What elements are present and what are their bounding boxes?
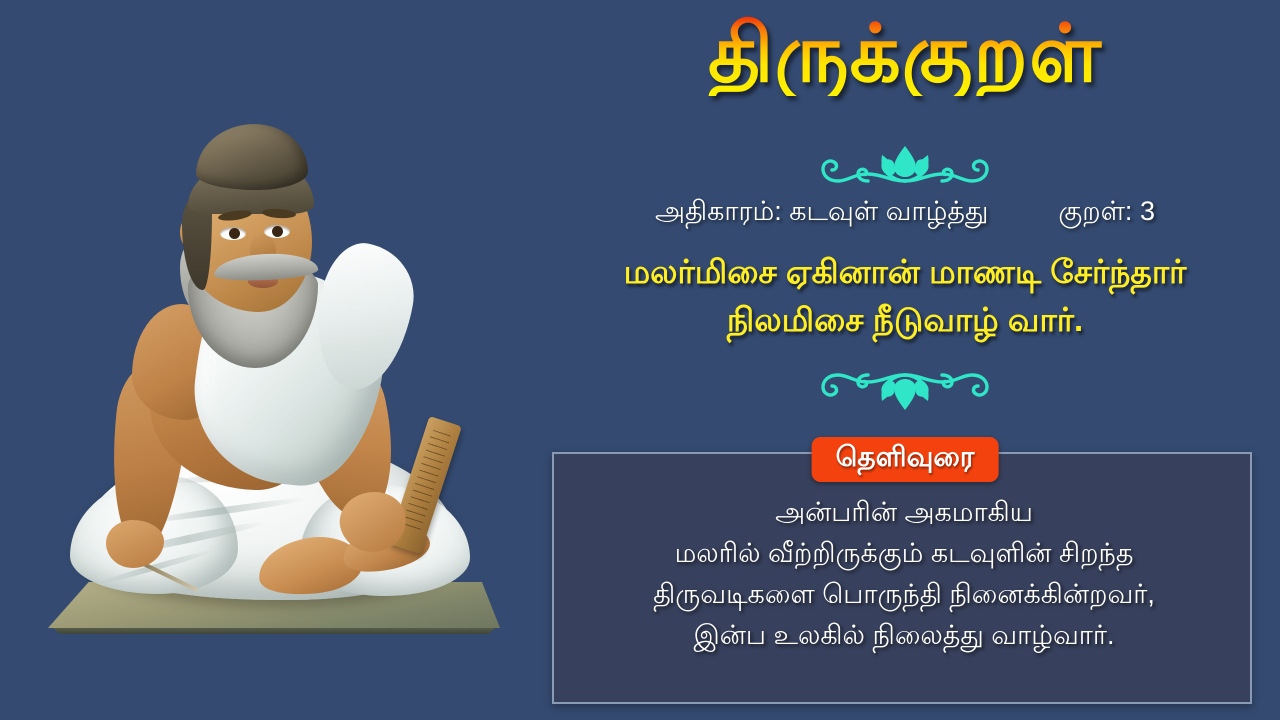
explanation-line: இன்ப உலகில் நிலைத்து வாழ்வார். — [564, 615, 1244, 656]
left-pupil — [229, 228, 240, 239]
couplet-line-1: மலர்மிசை ஏகினான் மாணடி சேர்ந்தார் — [530, 248, 1280, 296]
explanation-line: மலரில் வீற்றிருக்கும் கடவுளின் சிறந்த — [564, 533, 1244, 574]
kural-meta: அதிகாரம்: கடவுள் வாழ்த்து குறள்: 3 — [530, 196, 1280, 231]
hair-topknot — [196, 124, 308, 190]
page-title: திருக்குறள் — [530, 12, 1280, 96]
kural-couplet: மலர்மிசை ஏகினான் மாணடி சேர்ந்தார் நிலமிச… — [530, 248, 1280, 344]
content-column: திருக்குறள் அதிகாரம்: கடவுள் வாழ்த்து கு… — [530, 0, 1280, 720]
explanation-line: திருவடிகளை பொருந்தி நினைக்கின்றவர், — [564, 574, 1244, 615]
chapter-label: அதிகாரம்: கடவுள் வாழ்த்து — [655, 196, 988, 231]
thiruvalluvar-illustration — [0, 0, 530, 720]
couplet-line-2: நிலமிசை நீடுவாழ் வார். — [530, 296, 1280, 344]
thirukkural-card: திருக்குறள் அதிகாரம்: கடவுள் வாழ்த்து கு… — [0, 0, 1280, 720]
explanation-badge: தெளிவுரை — [812, 437, 999, 482]
explanation-text: அன்பரின் அகமாகிய மலரில் வீற்றிருக்கும் க… — [564, 492, 1244, 656]
kural-number-label: குறள்: 3 — [1058, 196, 1155, 231]
right-pupil — [272, 226, 283, 237]
flourish-ornament-top — [790, 140, 1020, 190]
flourish-ornament-bottom — [790, 366, 1020, 416]
explanation-line: அன்பரின் அகமாகிய — [564, 492, 1244, 533]
